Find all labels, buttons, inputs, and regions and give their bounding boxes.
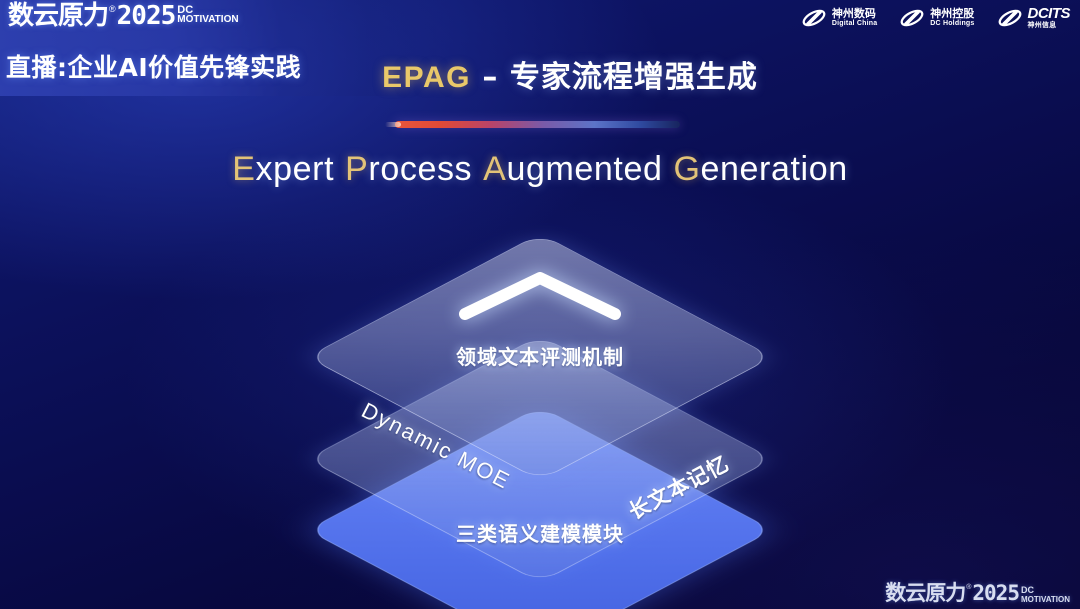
swirl-logo-icon [997, 7, 1023, 29]
layer-label-bottom: 三类语义建模模块 [456, 518, 624, 547]
brand-name-cn: 数云原力 [8, 3, 108, 29]
subtitle-rest-augmented: ugmented [506, 150, 662, 188]
title-subject: – 专家流程增强生成 [471, 60, 758, 95]
subtitle-rest-generation: eneration [701, 150, 848, 188]
footer-brand-dc-line1: DC [1021, 585, 1070, 595]
footer-brand-name-cn: 数云原力 [885, 583, 965, 604]
footer-brand-dc-motivation: DC MOTIVATION [1021, 583, 1070, 605]
partner-name-en: DC Holdings [930, 20, 974, 27]
subtitle-expansion: ExpertProcessAugmentedGeneration [0, 150, 1080, 189]
partner-name-cn: 神州控股 [930, 8, 974, 20]
footer-brand-year: 2025 [972, 583, 1019, 604]
partner-logo-group: 神州数码 Digital China 神州控股 DC Holdings [801, 6, 1070, 29]
slide-canvas: 数云原力 ® 2025 DC MOTIVATION 直播:企业AI价值先锋实践 … [0, 0, 1080, 609]
partner-name-cn: 神州信息 [1028, 22, 1071, 29]
brand-year: 2025 [117, 3, 176, 29]
page-title: EPAG – 专家流程增强生成 [0, 52, 1080, 96]
partner-label: DCITS 神州信息 [1028, 6, 1071, 29]
brand-dc-motivation: DC MOTIVATION [177, 3, 238, 25]
subtitle-cap-e: E [232, 150, 255, 188]
subtitle-cap-g: G [673, 150, 700, 188]
partner-name-cn: 神州数码 [832, 8, 877, 20]
title-acronym: EPAG [382, 61, 471, 94]
brand-logo: 数云原力 ® 2025 DC MOTIVATION [8, 3, 239, 29]
registered-mark: ® [109, 3, 116, 15]
partner-label: 神州数码 Digital China [832, 8, 877, 27]
swirl-logo-icon [899, 7, 925, 29]
subtitle-rest-process: rocess [368, 150, 472, 188]
subtitle-cap-p: P [345, 150, 368, 188]
partner-logo-dcits: DCITS 神州信息 [997, 6, 1071, 29]
subtitle-cap-a: A [483, 150, 506, 188]
partner-label: 神州控股 DC Holdings [930, 8, 974, 27]
isometric-layer-stack: 领域文本评测机制 Dynamic MOE 长文本记忆 三类语义建模模块 [295, 228, 785, 568]
brand-dc-line2: MOTIVATION [177, 15, 238, 25]
footer-registered-mark: ® [966, 583, 971, 592]
partner-logo-dc-holdings: 神州控股 DC Holdings [899, 7, 974, 29]
chevron-up-icon [457, 268, 623, 322]
footer-watermark-logo: 数云原力 ® 2025 DC MOTIVATION [885, 583, 1070, 605]
subtitle-rest-expert: xpert [256, 150, 335, 188]
partner-logo-digital-china: 神州数码 Digital China [801, 7, 877, 29]
partner-name-en-big: DCITS [1028, 6, 1071, 22]
swirl-logo-icon [801, 7, 827, 29]
layer-label-top: 领域文本评测机制 [456, 341, 624, 370]
accent-divider-bar [395, 121, 680, 128]
partner-name-en: Digital China [832, 20, 877, 27]
footer-brand-dc-line2: MOTIVATION [1021, 595, 1070, 605]
